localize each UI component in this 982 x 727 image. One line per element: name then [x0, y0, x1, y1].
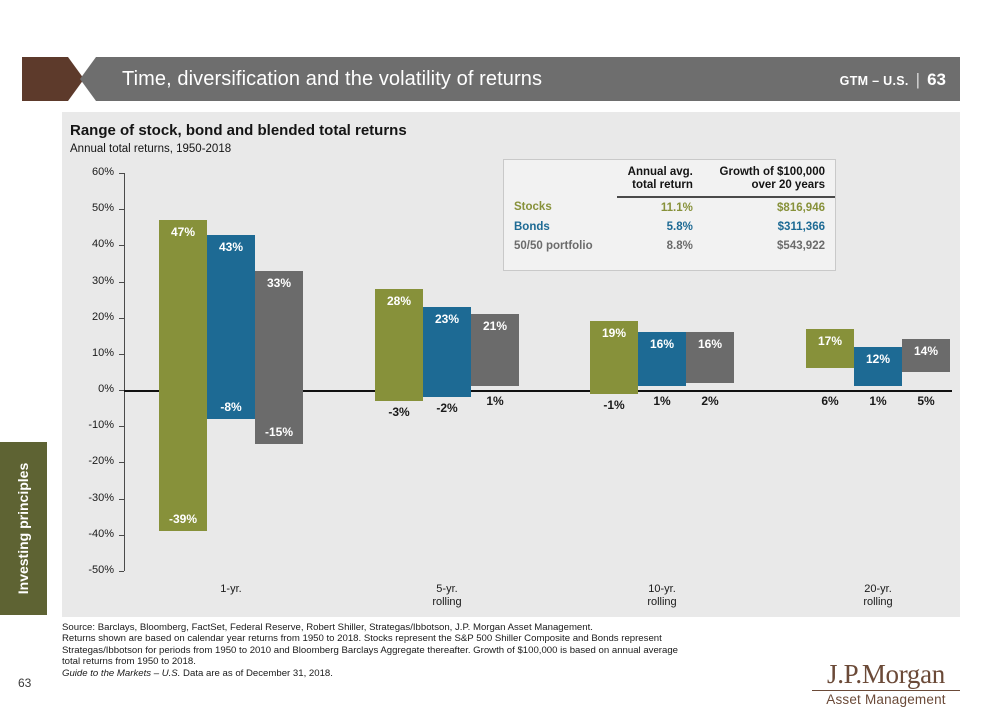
header-arrow-shape [22, 57, 84, 101]
column-header-line2: total return [632, 179, 693, 191]
header-meta: GTM – U.S.|63 [840, 57, 946, 101]
footnote-note-line-2: Strategas/Ibbotson for periods from 1950… [62, 645, 762, 656]
stats-row-growth: $816,946 [703, 197, 835, 217]
y-axis-tick [119, 209, 124, 210]
header-underline [22, 101, 960, 110]
bar-min-label: 1% [471, 394, 519, 408]
y-axis-tick-label: 60% [70, 166, 114, 178]
table-row: 50/50 portfolio8.8%$543,922 [504, 236, 835, 255]
header-separator: | [909, 70, 927, 89]
stats-row-avg-return: 5.8% [617, 217, 703, 236]
summary-stats-box: Annual avg. total return Growth of $100,… [503, 159, 836, 271]
y-axis-tick-label: -50% [70, 564, 114, 576]
sidebar-tab-label: Investing principles [0, 442, 47, 615]
column-header-line1: Growth of $100,000 [720, 166, 825, 178]
stats-row-avg-return: 11.1% [617, 197, 703, 217]
x-axis-label-line2: rolling [780, 596, 976, 609]
logo-subtitle: Asset Management [812, 692, 960, 708]
table-body: Stocks11.1%$816,946Bonds5.8%$311,36650/5… [504, 197, 835, 255]
bar-max-label: 23% [423, 312, 471, 326]
column-header-line2: over 20 years [751, 179, 825, 191]
header-title: Time, diversification and the volatility… [122, 57, 542, 101]
x-axis-label-line2: rolling [349, 596, 545, 609]
column-header-line1: Annual avg. [628, 166, 693, 178]
column-header-blank [504, 160, 617, 197]
bar-min-label: -8% [207, 400, 255, 414]
footnote-note-line-3: total returns from 1950 to 2018. [62, 656, 762, 667]
table-row: Bonds5.8%$311,366 [504, 217, 835, 236]
column-header-annual-avg-total-return: Annual avg. total return [617, 160, 703, 197]
footnote-guide-to-the-markets: Guide to the Markets – U.S. Data are as … [62, 668, 762, 679]
table-header-row: Annual avg. total return Growth of $100,… [504, 160, 835, 197]
bar-50-50-portfolio-0 [255, 271, 303, 445]
x-axis-label-line2: rolling [564, 596, 760, 609]
logo-wordmark: J.P.Morgan [812, 660, 960, 689]
bar-max-label: 47% [159, 225, 207, 239]
y-axis-tick-label: -40% [70, 528, 114, 540]
logo-divider [812, 690, 960, 691]
x-axis-category-label: 20-yr.rolling [780, 583, 976, 609]
bar-min-label: 5% [902, 394, 950, 408]
footnote-guide-rest: Data are as of December 31, 2018. [180, 668, 333, 679]
y-axis-tick-label: -10% [70, 419, 114, 431]
y-axis-line [124, 173, 125, 571]
bar-stocks-0 [159, 220, 207, 531]
jpmorgan-logo: J.P.Morgan Asset Management [812, 660, 960, 708]
x-axis-category-label: 10-yr.rolling [564, 583, 760, 609]
stats-row-name: Stocks [504, 197, 617, 217]
slide-body-panel: Range of stock, bond and blended total r… [62, 112, 960, 617]
footnote-note-line-1: Returns shown are based on calendar year… [62, 633, 762, 644]
y-axis-tick-label: 50% [70, 202, 114, 214]
bar-bonds-0 [207, 235, 255, 420]
y-axis-tick-label: -20% [70, 455, 114, 467]
bar-max-label: 16% [686, 337, 734, 351]
stats-row-growth: $311,366 [703, 217, 835, 236]
bar-min-label: 6% [806, 394, 854, 408]
bar-min-label: 2% [686, 394, 734, 408]
x-axis-category-label: 1-yr. [133, 583, 329, 596]
x-axis-category-label: 5-yr.rolling [349, 583, 545, 609]
y-axis-tick [119, 571, 124, 572]
bar-max-label: 33% [255, 276, 303, 290]
y-axis-tick [119, 173, 124, 174]
x-axis-label-line1: 5-yr. [349, 583, 545, 596]
bar-max-label: 12% [854, 352, 902, 366]
bar-min-label: -1% [590, 398, 638, 412]
bar-min-label: -39% [159, 512, 207, 526]
stats-row-avg-return: 8.8% [617, 236, 703, 255]
x-axis-label-line1: 20-yr. [780, 583, 976, 596]
y-axis-tick [119, 318, 124, 319]
slide-header: Time, diversification and the volatility… [22, 57, 960, 101]
stats-row-growth: $543,922 [703, 236, 835, 255]
y-axis-tick-label: 40% [70, 238, 114, 250]
y-axis-tick [119, 354, 124, 355]
y-axis-tick [119, 282, 124, 283]
summary-stats-table: Annual avg. total return Growth of $100,… [504, 160, 835, 255]
header-page-number: 63 [927, 70, 946, 89]
x-axis-label-line1: 1-yr. [133, 583, 329, 596]
bar-min-label: -2% [423, 401, 471, 415]
y-axis-tick-label: -30% [70, 492, 114, 504]
y-axis-tick-label: 0% [70, 383, 114, 395]
x-axis-label-line1: 10-yr. [564, 583, 760, 596]
bar-min-label: -15% [255, 425, 303, 439]
footnote-source: Source: Barclays, Bloomberg, FactSet, Fe… [62, 622, 762, 633]
page-number: 63 [18, 676, 31, 690]
y-axis-tick [119, 462, 124, 463]
bar-max-label: 14% [902, 344, 950, 358]
bar-max-label: 21% [471, 319, 519, 333]
stats-row-name: 50/50 portfolio [504, 236, 617, 255]
y-axis-tick [119, 245, 124, 246]
bar-min-label: 1% [638, 394, 686, 408]
sidebar-tab-investing-principles[interactable]: Investing principles [0, 442, 47, 615]
y-axis-tick [119, 499, 124, 500]
bar-max-label: 19% [590, 326, 638, 340]
header-gtm-label: GTM – U.S. [840, 74, 909, 88]
bar-max-label: 16% [638, 337, 686, 351]
bar-max-label: 43% [207, 240, 255, 254]
y-axis-tick-label: 20% [70, 311, 114, 323]
bar-min-label: -3% [375, 405, 423, 419]
y-axis-tick [119, 535, 124, 536]
stats-row-name: Bonds [504, 217, 617, 236]
column-header-growth-of-100000: Growth of $100,000 over 20 years [703, 160, 835, 197]
y-axis-tick-label: 30% [70, 275, 114, 287]
bar-max-label: 17% [806, 334, 854, 348]
y-axis-tick [119, 426, 124, 427]
footnotes: Source: Barclays, Bloomberg, FactSet, Fe… [62, 622, 762, 679]
y-axis-tick-label: 10% [70, 347, 114, 359]
bar-max-label: 28% [375, 294, 423, 308]
footnote-guide-italic: Guide to the Markets – U.S. [62, 668, 180, 679]
table-row: Stocks11.1%$816,946 [504, 197, 835, 217]
bar-min-label: 1% [854, 394, 902, 408]
